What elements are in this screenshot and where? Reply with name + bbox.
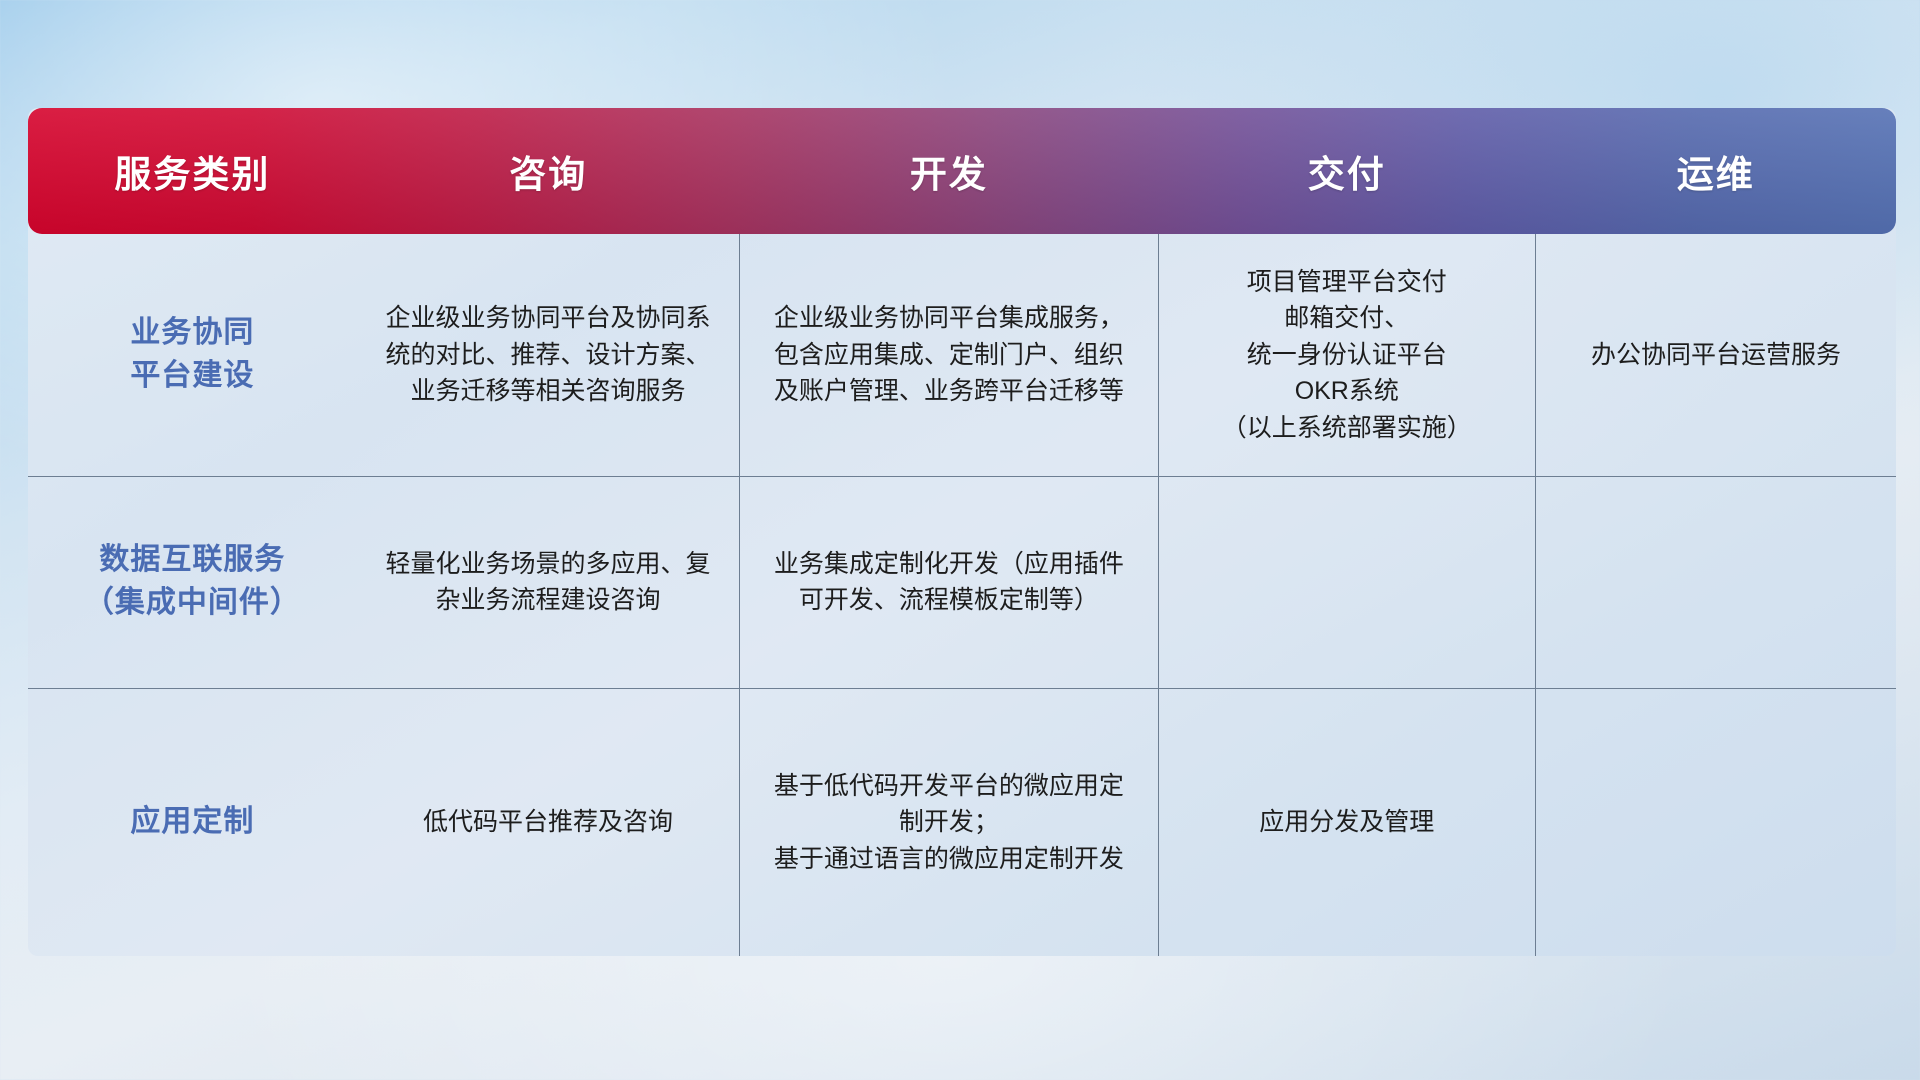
cell-delivery-row1: 项目管理平台交付 邮箱交付、 统一身份认证平台 OKR系统 （以上系统部署实施） xyxy=(1158,234,1535,476)
cell-category-row1: 业务协同 平台建设 xyxy=(28,234,357,476)
cell-consulting-row1: 企业级业务协同平台及协同系 统的对比、推荐、设计方案、 业务迁移等相关咨询服务 xyxy=(357,234,740,476)
cell-operations-row1: 办公协同平台运营服务 xyxy=(1535,234,1896,476)
cell-development-row1: 企业级业务协同平台集成服务， 包含应用集成、定制门户、组织 及账户管理、业务跨平… xyxy=(740,234,1158,476)
cell-consulting-row2: 轻量化业务场景的多应用、复 杂业务流程建设咨询 xyxy=(357,476,740,688)
cell-development-row3: 基于低代码开发平台的微应用定 制开发； 基于通过语言的微应用定制开发 xyxy=(740,688,1158,956)
table-row: 业务协同 平台建设 企业级业务协同平台及协同系 统的对比、推荐、设计方案、 业务… xyxy=(28,234,1896,476)
cell-delivery-row2 xyxy=(1158,476,1535,688)
header-cell-operations: 运维 xyxy=(1535,108,1896,234)
header-cell-delivery: 交付 xyxy=(1158,108,1535,234)
cell-category-row3: 应用定制 xyxy=(28,688,357,956)
cell-category-row2: 数据互联服务 （集成中间件） xyxy=(28,476,357,688)
cell-operations-row2 xyxy=(1535,476,1896,688)
header-label-service-category: 服务类别 xyxy=(28,144,357,198)
header-cell-service-category: 服务类别 xyxy=(28,108,357,234)
service-matrix-table: 服务类别 咨询 开发 交付 运维 业务协同 平台建设 企业级业务协同平台及协同 xyxy=(28,108,1896,956)
header-label-development: 开发 xyxy=(740,144,1158,198)
service-matrix: 服务类别 咨询 开发 交付 运维 业务协同 平台建设 企业级业务协同平台及协同 xyxy=(28,108,1896,956)
table-row: 数据互联服务 （集成中间件） 轻量化业务场景的多应用、复 杂业务流程建设咨询 业… xyxy=(28,476,1896,688)
cell-delivery-row3: 应用分发及管理 xyxy=(1158,688,1535,956)
header-cell-development: 开发 xyxy=(740,108,1158,234)
cell-development-row2: 业务集成定制化开发（应用插件 可开发、流程模板定制等） xyxy=(740,476,1158,688)
table-header: 服务类别 咨询 开发 交付 运维 xyxy=(28,108,1896,234)
cell-consulting-row3: 低代码平台推荐及咨询 xyxy=(357,688,740,956)
header-label-operations: 运维 xyxy=(1535,144,1896,198)
table-body: 业务协同 平台建设 企业级业务协同平台及协同系 统的对比、推荐、设计方案、 业务… xyxy=(28,234,1896,956)
header-cell-consulting: 咨询 xyxy=(357,108,740,234)
header-row: 服务类别 咨询 开发 交付 运维 xyxy=(28,108,1896,234)
cell-operations-row3 xyxy=(1535,688,1896,956)
table-row: 应用定制 低代码平台推荐及咨询 基于低代码开发平台的微应用定 制开发； 基于通过… xyxy=(28,688,1896,956)
header-label-delivery: 交付 xyxy=(1158,144,1535,198)
header-label-consulting: 咨询 xyxy=(357,144,740,198)
